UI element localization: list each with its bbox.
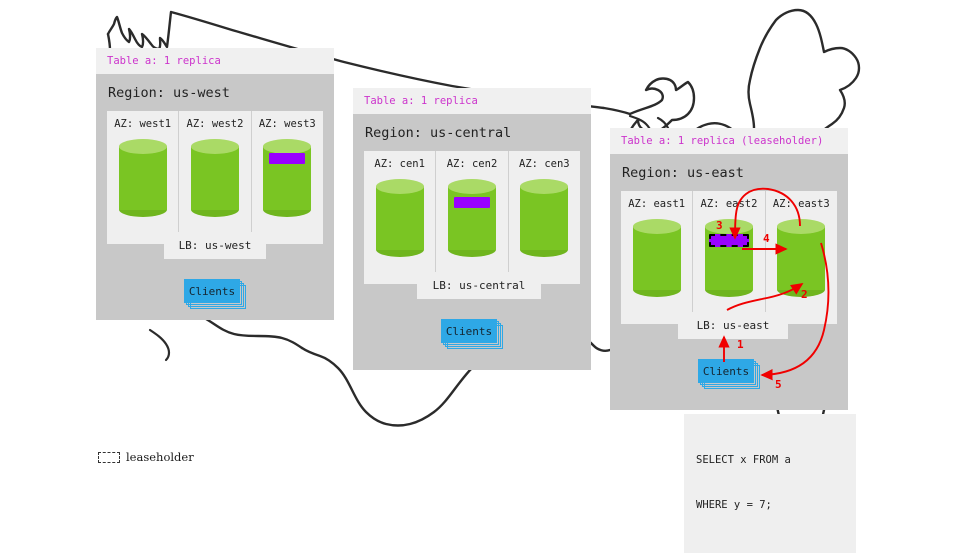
- cylinder-top: [633, 219, 681, 234]
- cylinder-top: [376, 179, 424, 194]
- legend: leaseholder: [98, 450, 194, 464]
- cylinder-top: [520, 179, 568, 194]
- sql-line-1: SELECT x FROM a: [696, 453, 844, 468]
- az-cell-east1[interactable]: AZ: east1: [621, 191, 692, 324]
- cylinder-cen1: [376, 179, 424, 257]
- cylinder-east2: [705, 219, 753, 297]
- cylinder-top: [263, 139, 311, 154]
- replica-bar-west3: [269, 153, 305, 164]
- az-label-east1: AZ: east1: [621, 198, 692, 210]
- cylinder-body: [448, 186, 496, 250]
- lb-box-us-central[interactable]: LB: us-central: [417, 272, 541, 299]
- cylinder-west1: [119, 139, 167, 217]
- lb-box-us-west[interactable]: LB: us-west: [164, 232, 266, 259]
- az-cell-west2[interactable]: AZ: west2: [178, 111, 250, 244]
- cylinder-body: [633, 226, 681, 290]
- az-cell-cen3[interactable]: AZ: cen3: [508, 151, 580, 284]
- diagram-canvas: Table a: 1 replica Region: us-west AZ: w…: [0, 0, 960, 540]
- az-cell-cen2[interactable]: AZ: cen2: [435, 151, 507, 284]
- cylinder-top: [119, 139, 167, 154]
- leaseholder-swatch-icon: [98, 452, 120, 463]
- clients-label-us-east: Clients: [698, 359, 754, 383]
- az-label-cen3: AZ: cen3: [509, 158, 580, 170]
- panel-header-us-central: Table a: 1 replica: [353, 88, 591, 114]
- clients-label-us-central: Clients: [441, 319, 497, 343]
- region-title-us-west: Region: us-west: [96, 74, 334, 111]
- az-label-west3: AZ: west3: [252, 118, 323, 130]
- panel-header-us-west: Table a: 1 replica: [96, 48, 334, 74]
- az-row-us-east: AZ: east1 AZ: east2 AZ: east3: [621, 191, 837, 324]
- az-cell-west1[interactable]: AZ: west1: [107, 111, 178, 244]
- step-number-4: 4: [763, 232, 770, 245]
- legend-label: leaseholder: [126, 450, 194, 464]
- leaseholder-bar-east2: [709, 234, 749, 247]
- az-label-west1: AZ: west1: [107, 118, 178, 130]
- cylinder-top: [191, 139, 239, 154]
- sql-line-2: WHERE y = 7;: [696, 498, 844, 513]
- lb-box-us-east[interactable]: LB: us-east: [678, 312, 788, 339]
- cylinder-east3: [777, 219, 825, 297]
- cylinder-west3: [263, 139, 311, 217]
- cylinder-cen3: [520, 179, 568, 257]
- cylinder-body: [191, 146, 239, 210]
- az-row-us-central: AZ: cen1 AZ: cen2 AZ: cen3: [364, 151, 580, 284]
- az-label-cen1: AZ: cen1: [364, 158, 435, 170]
- az-cell-west3[interactable]: AZ: west3: [251, 111, 323, 244]
- panel-header-us-east: Table a: 1 replica (leaseholder): [610, 128, 848, 154]
- region-title-us-central: Region: us-central: [353, 114, 591, 151]
- clients-us-west[interactable]: Clients: [184, 279, 240, 303]
- sql-query-box: SELECT x FROM a WHERE y = 7;: [684, 414, 856, 553]
- cylinder-body: [376, 186, 424, 250]
- az-cell-east3[interactable]: AZ: east3: [765, 191, 837, 324]
- az-label-east3: AZ: east3: [766, 198, 837, 210]
- az-label-east2: AZ: east2: [693, 198, 764, 210]
- az-row-us-west: AZ: west1 AZ: west2 AZ: west3: [107, 111, 323, 244]
- region-panel-us-west: Table a: 1 replica Region: us-west AZ: w…: [96, 48, 334, 320]
- region-title-us-east: Region: us-east: [610, 154, 848, 191]
- cylinder-east1: [633, 219, 681, 297]
- cylinder-body: [520, 186, 568, 250]
- region-panel-us-east: Table a: 1 replica (leaseholder) Region:…: [610, 128, 848, 410]
- cylinder-top: [705, 219, 753, 234]
- step-number-1: 1: [737, 338, 744, 351]
- region-panel-us-central: Table a: 1 replica Region: us-central AZ…: [353, 88, 591, 370]
- cylinder-top: [777, 219, 825, 234]
- az-label-cen2: AZ: cen2: [436, 158, 507, 170]
- step-number-2: 2: [801, 288, 808, 301]
- cylinder-body: [119, 146, 167, 210]
- cylinder-body: [777, 226, 825, 290]
- clients-label-us-west: Clients: [184, 279, 240, 303]
- replica-bar-cen2: [454, 197, 490, 208]
- cylinder-cen2: [448, 179, 496, 257]
- clients-us-east[interactable]: Clients: [698, 359, 754, 383]
- cylinder-west2: [191, 139, 239, 217]
- step-number-3: 3: [716, 219, 723, 232]
- az-cell-east2[interactable]: AZ: east2: [692, 191, 764, 324]
- clients-us-central[interactable]: Clients: [441, 319, 497, 343]
- az-label-west2: AZ: west2: [179, 118, 250, 130]
- step-number-5: 5: [775, 378, 782, 391]
- az-cell-cen1[interactable]: AZ: cen1: [364, 151, 435, 284]
- cylinder-top: [448, 179, 496, 194]
